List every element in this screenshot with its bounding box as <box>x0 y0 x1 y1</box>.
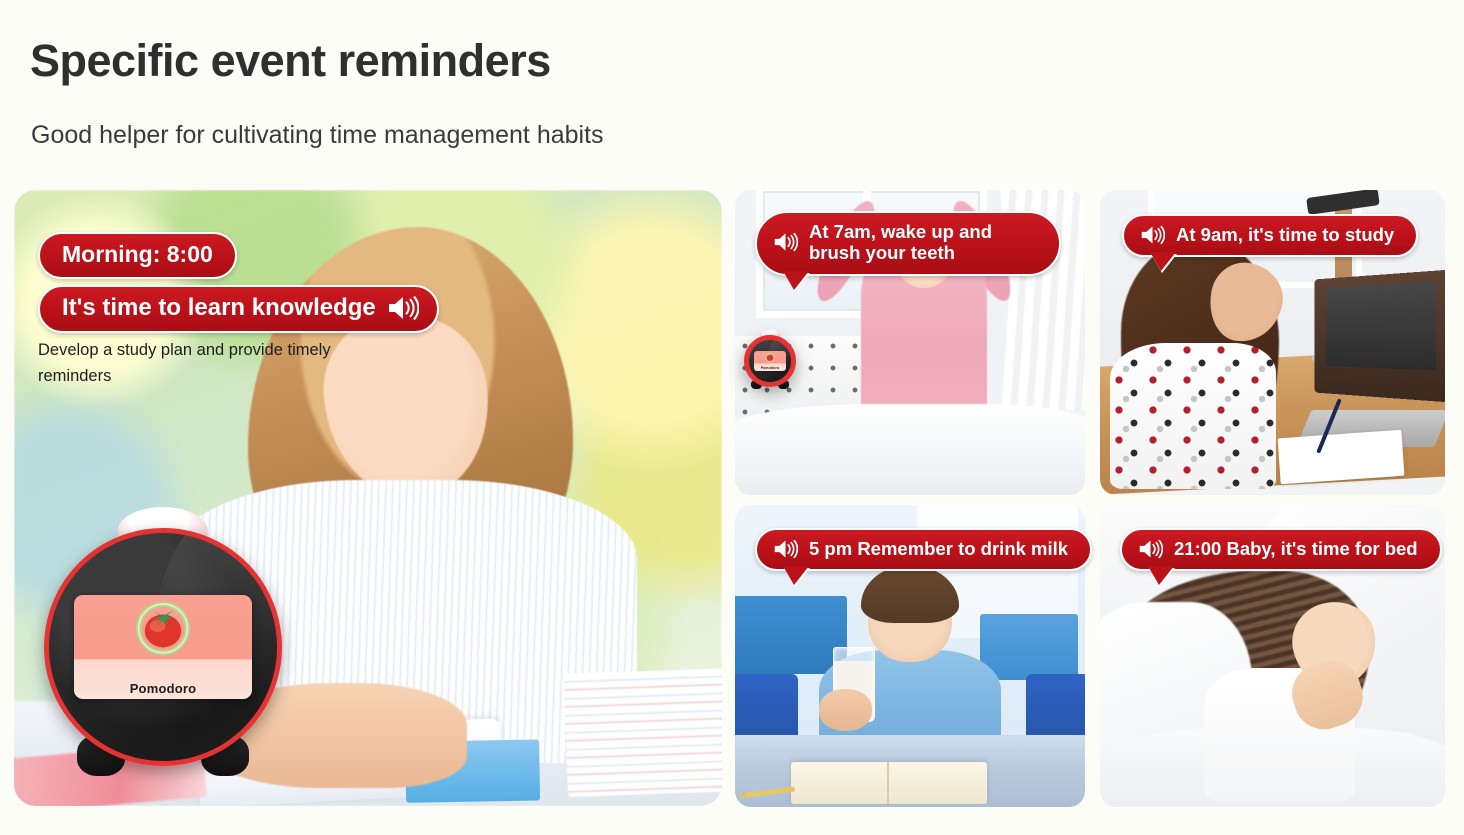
tomato-timer-icon <box>763 352 777 363</box>
clock-screen-label: Pomodoro <box>74 681 252 696</box>
speaker-icon <box>773 232 798 252</box>
page-subtitle: Good helper for cultivating time managem… <box>31 120 604 150</box>
hero-time-badge-label: Morning: 8:00 <box>62 241 213 268</box>
speaker-icon <box>1138 539 1163 559</box>
bed-badge[interactable]: 21:00 Baby, it's time for bed <box>1120 528 1442 571</box>
study-badge[interactable]: At 9am, it's time to study <box>1122 214 1418 257</box>
study-badge-label: At 9am, it's time to study <box>1176 224 1394 246</box>
hero-time-badge[interactable]: Morning: 8:00 <box>38 232 237 279</box>
bed-badge-label: 21:00 Baby, it's time for bed <box>1174 538 1418 560</box>
tomato-timer-icon: 9 6 3 6 <box>126 596 201 657</box>
hero-caption: Develop a study plan and provide timely … <box>38 338 358 389</box>
hero-book-stack <box>564 668 722 797</box>
milk-boy-hand <box>819 689 872 731</box>
milk-cabinet-right <box>980 614 1078 680</box>
pomodoro-clock-device-small[interactable]: Pomodoro <box>744 335 796 387</box>
clock-body: 9 6 3 6 Pomodoro <box>44 528 282 766</box>
page-title: Specific event reminders <box>30 38 551 83</box>
hero-message-badge[interactable]: It's time to learn knowledge <box>38 285 439 333</box>
study-laptop <box>1315 270 1445 403</box>
milk-badge-label: 5 pm Remember to drink milk <box>809 538 1068 560</box>
milk-badge[interactable]: 5 pm Remember to drink milk <box>755 528 1092 571</box>
clock-screen: Pomodoro <box>754 351 787 370</box>
clock-body: Pomodoro <box>744 335 796 387</box>
clock-screen[interactable]: 9 6 3 6 Pomodoro <box>74 595 252 700</box>
pomodoro-clock-device[interactable]: 9 6 3 6 Pomodoro <box>44 528 282 766</box>
milk-open-book <box>791 762 987 804</box>
study-notepad <box>1278 430 1405 484</box>
clock-screen-label: Pomodoro <box>754 366 787 370</box>
speaker-icon <box>387 295 419 321</box>
study-girl-shirt <box>1110 343 1276 489</box>
milk-cabinet-left <box>735 596 847 675</box>
wake-badge-label: At 7am, wake up and brush your teeth <box>809 221 1039 264</box>
hero-message-badge-label: It's time to learn knowledge <box>62 294 376 322</box>
wake-badge[interactable]: At 7am, wake up and brush your teeth <box>755 211 1061 276</box>
wake-duvet <box>735 404 1085 496</box>
speaker-icon <box>773 539 798 559</box>
speaker-icon <box>1140 225 1165 245</box>
